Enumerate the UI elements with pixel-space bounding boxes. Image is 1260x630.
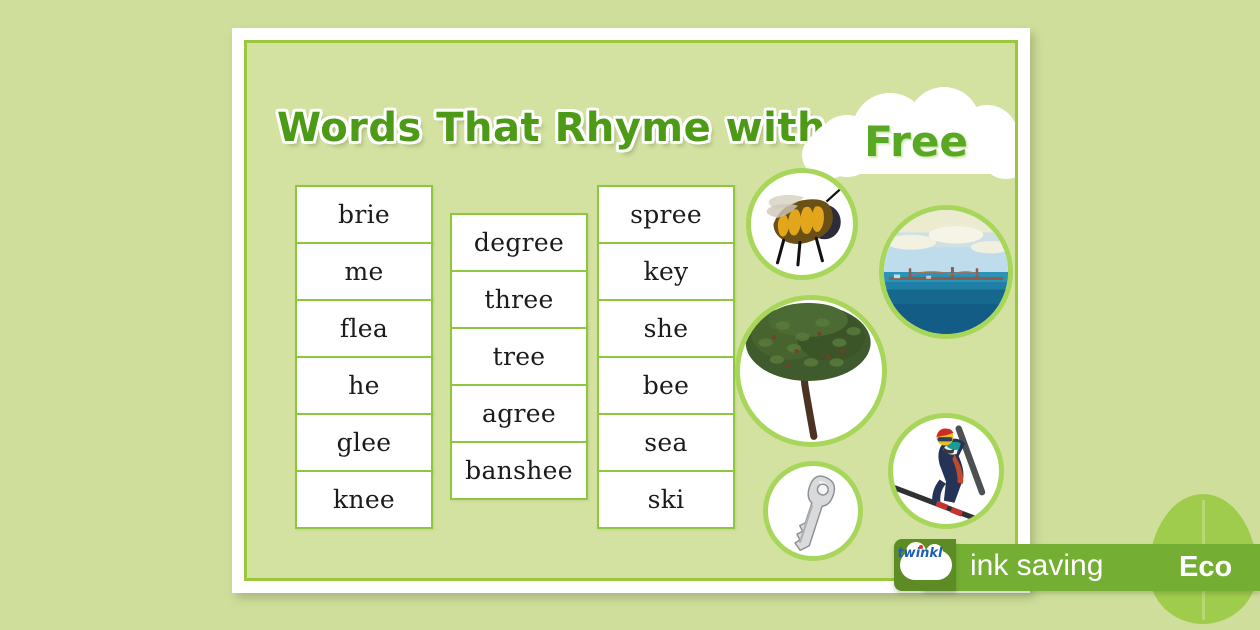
word-box[interactable]: she xyxy=(597,299,735,358)
word-label: banshee xyxy=(465,456,573,485)
word-box[interactable]: glee xyxy=(295,413,433,472)
word-box[interactable]: sea xyxy=(597,413,735,472)
word-box[interactable]: bee xyxy=(597,356,735,415)
word-label: bee xyxy=(643,371,690,400)
tree-image xyxy=(735,295,887,447)
word-label: three xyxy=(484,285,553,314)
word-label: ski xyxy=(648,485,685,514)
twinkl-logo: twinkl xyxy=(894,539,956,591)
eco-label: Eco xyxy=(1179,551,1232,583)
ink-saving-label: ink saving xyxy=(970,550,1103,582)
word-label: knee xyxy=(333,485,395,514)
word-box[interactable]: me xyxy=(295,242,433,301)
word-column-1: brie me flea he glee knee xyxy=(295,185,433,529)
word-box[interactable]: tree xyxy=(450,327,588,386)
word-label: he xyxy=(348,371,380,400)
word-label: flea xyxy=(340,314,388,343)
word-box[interactable]: key xyxy=(597,242,735,301)
word-column-2: degree three tree agree banshee xyxy=(450,213,588,500)
word-box[interactable]: banshee xyxy=(450,441,588,500)
title-row: Words That Rhyme with Free xyxy=(247,95,1015,195)
word-label: glee xyxy=(337,428,392,457)
twinkl-dot-icon xyxy=(919,545,923,549)
word-box[interactable]: three xyxy=(450,270,588,329)
bee-image xyxy=(746,168,858,280)
word-box[interactable]: agree xyxy=(450,384,588,443)
poster-frame: Words That Rhyme with Free brie me flea … xyxy=(232,28,1030,593)
word-box[interactable]: degree xyxy=(450,213,588,272)
word-label: she xyxy=(644,314,689,343)
word-box[interactable]: ski xyxy=(597,470,735,529)
word-box[interactable]: spree xyxy=(597,185,735,244)
word-box[interactable]: flea xyxy=(295,299,433,358)
poster-inner-panel: Words That Rhyme with Free brie me flea … xyxy=(244,40,1018,581)
word-label: sea xyxy=(644,428,687,457)
word-label: agree xyxy=(482,399,556,428)
ink-saving-watermark: twinkl ink saving Eco xyxy=(894,536,1260,592)
word-label: me xyxy=(344,257,383,286)
word-label: tree xyxy=(493,342,546,371)
word-label: degree xyxy=(474,228,564,257)
word-label: spree xyxy=(630,200,702,229)
word-box[interactable]: he xyxy=(295,356,433,415)
word-label: brie xyxy=(338,200,390,229)
word-box[interactable]: brie xyxy=(295,185,433,244)
word-column-3: spree key she bee sea ski xyxy=(597,185,735,529)
focus-word: Free xyxy=(800,117,1018,166)
page-title: Words That Rhyme with xyxy=(277,105,817,151)
key-image xyxy=(763,461,863,561)
sea-image xyxy=(879,205,1013,339)
word-label: key xyxy=(644,257,689,286)
ski-image xyxy=(888,413,1004,529)
word-box[interactable]: knee xyxy=(295,470,433,529)
